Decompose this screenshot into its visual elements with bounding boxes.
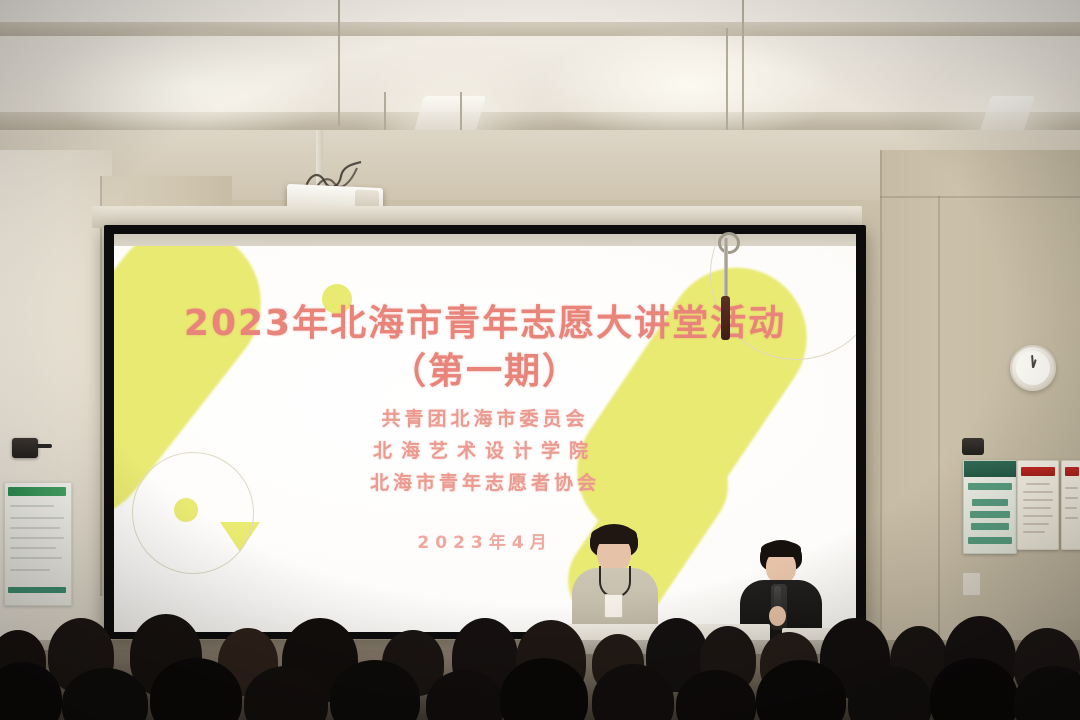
slide-organizer-line3: 北海市青年志愿者协会 — [114, 468, 856, 495]
left-wall-camera-icon — [12, 438, 38, 458]
ceiling-hook-clip — [721, 296, 730, 340]
poster-text-line — [1023, 515, 1053, 517]
camera-mount-arm — [36, 444, 52, 448]
poster-header-band — [8, 487, 66, 496]
poster-text-line — [1065, 497, 1078, 499]
right-wall-camera-icon — [962, 438, 984, 455]
poster-text-band — [970, 511, 1010, 518]
clock-face — [1016, 351, 1050, 385]
poster-text-line — [1023, 499, 1053, 501]
right-wall-red-poster-1 — [1017, 460, 1059, 550]
poster-header-band — [1021, 467, 1055, 476]
poster-text-line — [1023, 531, 1045, 533]
hair-front — [591, 526, 637, 544]
poster-text-line — [1026, 483, 1050, 485]
poster-text-line — [1023, 491, 1053, 493]
slide-organizer-line2: 北海艺术设计学院 — [114, 436, 856, 463]
poster-text-band — [968, 537, 1012, 544]
wall-outlet — [962, 572, 981, 596]
hair-front — [761, 541, 801, 557]
wall-seam — [938, 196, 940, 646]
poster-text-line — [10, 537, 64, 539]
wall-seam — [880, 150, 882, 650]
ceiling-hook-rod — [724, 238, 728, 300]
poster-text-line — [10, 517, 64, 519]
ceiling-hook-ring — [718, 232, 740, 254]
poster-text-line — [10, 569, 50, 571]
right-wall-red-poster-2 — [1061, 460, 1080, 550]
poster-footer-band — [8, 587, 66, 593]
poster-text-band — [968, 483, 1012, 490]
poster-text-line — [1023, 507, 1051, 509]
poster-text-line — [10, 527, 60, 529]
poster-text-band — [971, 523, 1009, 530]
poster-text-line — [10, 557, 62, 559]
lecture-hall-photo: 2023年北海市青年志愿大讲堂活动 （第一期） 共青团北海市委员会 北海艺术设计… — [0, 0, 1080, 720]
poster-text-line — [1065, 487, 1078, 489]
poster-text-line — [10, 505, 54, 507]
right-wall-green-poster — [963, 460, 1017, 554]
left-wall-green-poster — [4, 482, 72, 606]
poster-text-band — [972, 499, 1008, 506]
ceiling-beam-upper — [0, 22, 1080, 36]
slide-organizer-line1: 共青团北海市委员会 — [114, 404, 856, 431]
poster-text-line — [1065, 507, 1077, 509]
poster-text-line — [1023, 523, 1049, 525]
poster-header-band — [964, 461, 1016, 477]
wall-seam — [100, 176, 102, 596]
seated-audience — [0, 600, 1080, 720]
wall-clock — [1010, 345, 1056, 391]
poster-text-line — [10, 547, 56, 549]
slide-title-line1: 2023年北海市青年志愿大讲堂活动 — [114, 294, 856, 346]
slide-title-line2: （第一期） — [114, 342, 856, 394]
poster-header-band — [1065, 467, 1079, 476]
right-wall-panel — [940, 200, 1080, 620]
hanging-cable — [338, 0, 340, 126]
wall-seam — [880, 196, 1080, 198]
ceiling-beam-lower — [0, 112, 1080, 130]
poster-text-line — [1065, 517, 1078, 519]
